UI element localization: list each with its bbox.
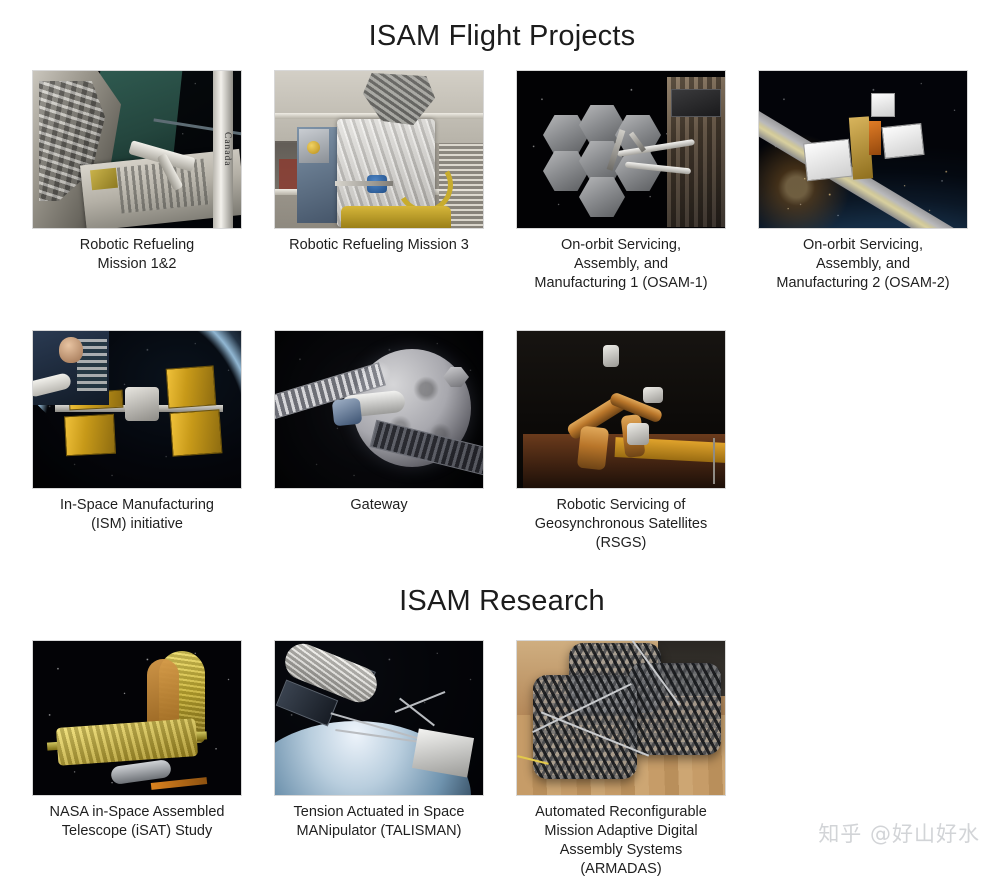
canadarm-label: Canada: [214, 119, 232, 179]
osam-1-render[interactable]: [516, 70, 726, 229]
project-caption-osam1: On-orbit Servicing,Assembly, andManufact…: [504, 236, 739, 293]
project-caption-rrm12: Robotic RefuelingMission 1&2: [25, 236, 250, 274]
isam-projects-page: ISAM Flight Projects Canada Robotic Refu…: [0, 0, 1004, 878]
project-card-rrm12[interactable]: Canada Robotic RefuelingMission 1&2: [32, 70, 242, 293]
iss-solar-array-3-art: [166, 365, 217, 408]
project-card-isat[interactable]: NASA in-Space AssembledTelescope (iSAT) …: [32, 640, 242, 879]
in-space-manufacturing-photo[interactable]: [32, 330, 242, 489]
iss-solar-array-4-art: [170, 409, 223, 456]
project-card-rsgs[interactable]: Robotic Servicing ofGeosynchronous Satel…: [516, 330, 726, 553]
end-effector-lower-art: [627, 423, 649, 445]
rrm-module-patch-art: [90, 168, 118, 191]
project-card-gateway[interactable]: Gateway: [274, 330, 484, 553]
page-title-research: ISAM Research: [0, 585, 1004, 618]
osam-2-render[interactable]: [758, 70, 968, 229]
project-card-talisman[interactable]: Tension Actuated in SpaceMANipulator (TA…: [274, 640, 484, 879]
project-caption-isat: NASA in-Space AssembledTelescope (iSAT) …: [25, 803, 250, 841]
project-card-osam1[interactable]: On-orbit Servicing,Assembly, andManufact…: [516, 70, 726, 293]
project-card-ism[interactable]: In-Space Manufacturing(ISM) initiative: [32, 330, 242, 553]
flight-projects-row-2: In-Space Manufacturing(ISM) initiative G…: [0, 330, 1004, 553]
solar-array-right-art: [881, 123, 924, 159]
lattice-structure-right-art: [629, 663, 721, 755]
spacecraft-yellow-base-art: [341, 206, 451, 228]
camera-tripod-art: [713, 438, 715, 484]
flight-projects-row-1: Canada Robotic RefuelingMission 1&2: [0, 70, 1004, 293]
project-caption-rrm3: Robotic Refueling Mission 3: [267, 236, 492, 255]
gateway-node-module-art: [332, 398, 363, 427]
robotic-arm-1-segment-b-art: [577, 426, 609, 471]
cleanroom-red-panel-art: [279, 159, 297, 189]
spacecraft-gold-dot-art: [307, 141, 320, 154]
project-card-armadas[interactable]: Automated ReconfigurableMission Adaptive…: [516, 640, 726, 879]
isat-telescope-render[interactable]: [32, 640, 242, 796]
iss-solar-array-2-art: [64, 414, 116, 457]
robotic-refueling-mission-1-2-photo[interactable]: Canada: [32, 70, 242, 229]
zhihu-watermark: 知乎 @好山好水: [818, 818, 980, 848]
project-card-rrm3[interactable]: Robotic Refueling Mission 3: [274, 70, 484, 293]
page-title-flight-projects: ISAM Flight Projects: [0, 20, 1004, 53]
end-effector-right-art: [643, 387, 663, 403]
end-effector-top-art: [603, 345, 619, 367]
spacecraft-rod-art: [335, 181, 393, 186]
project-caption-talisman: Tension Actuated in SpaceMANipulator (TA…: [267, 803, 492, 841]
solar-array-left-art: [803, 139, 853, 182]
astronaut-head-art: [59, 337, 83, 363]
project-caption-ism: In-Space Manufacturing(ISM) initiative: [25, 496, 250, 534]
project-card-osam2[interactable]: On-orbit Servicing,Assembly, andManufact…: [758, 70, 968, 293]
project-caption-armadas: Automated ReconfigurableMission Adaptive…: [504, 803, 739, 879]
gateway-render[interactable]: [274, 330, 484, 489]
robotic-refueling-mission-3-photo[interactable]: [274, 70, 484, 229]
project-caption-osam2: On-orbit Servicing,Assembly, andManufact…: [746, 236, 981, 293]
rsgs-robotic-arms-photo[interactable]: [516, 330, 726, 489]
client-satellite-panel-art: [671, 89, 721, 117]
project-caption-gateway: Gateway: [267, 496, 492, 515]
talisman-render[interactable]: [274, 640, 484, 796]
project-caption-rsgs: Robotic Servicing ofGeosynchronous Satel…: [504, 496, 739, 553]
armadas-lattice-photo[interactable]: [516, 640, 726, 796]
spacecraft-top-box-art: [871, 93, 895, 117]
iss-core-module-art: [125, 387, 159, 421]
spacecraft-mechanism-art: [869, 121, 881, 155]
